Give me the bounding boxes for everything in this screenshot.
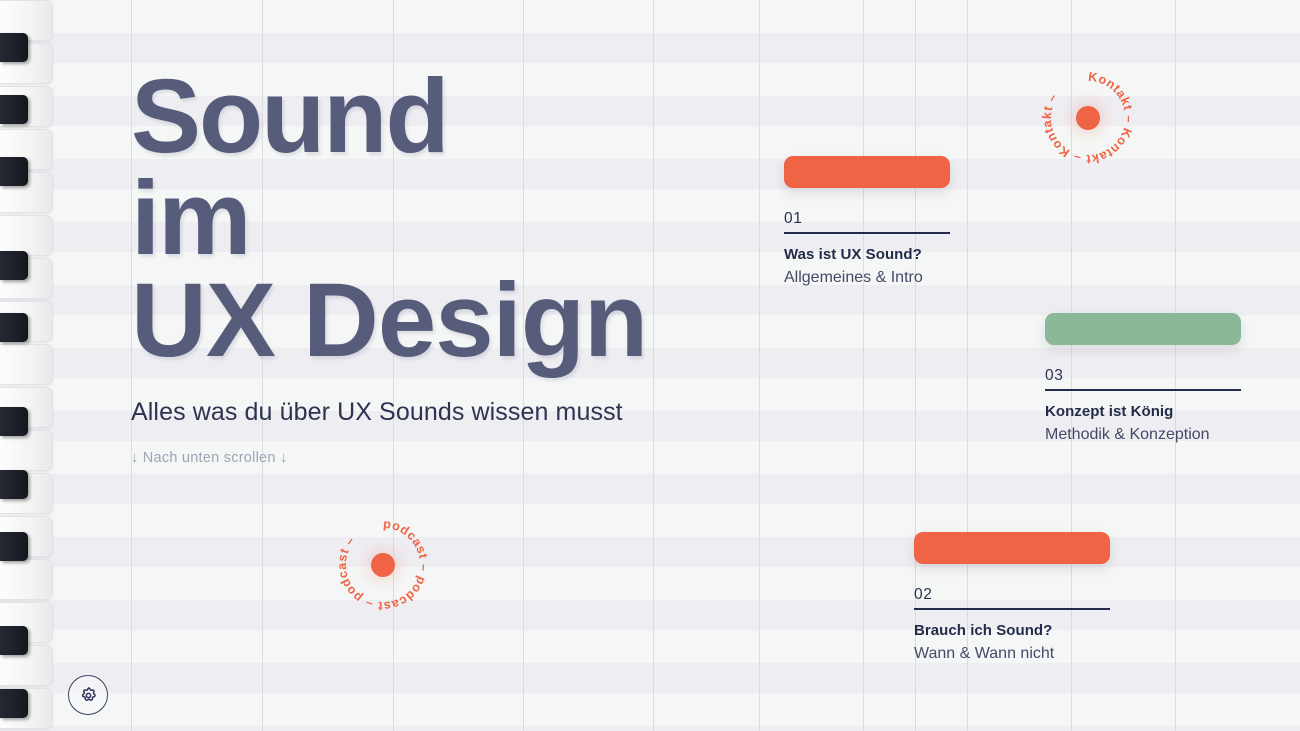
page-title-line-1: Sound	[131, 66, 647, 168]
piano-black-key[interactable]	[0, 407, 28, 436]
card-divider	[914, 608, 1110, 610]
card-description: Wann & Wann nicht	[914, 645, 1110, 663]
card-description: Methodik & Konzeption	[1045, 426, 1241, 444]
grid-line-5	[759, 0, 760, 731]
card-color-bar	[784, 156, 950, 188]
card-color-bar	[1045, 313, 1241, 345]
hero-text-block: Sound im UX Design Alles was du über UX …	[131, 66, 647, 466]
hero-subtitle: Alles was du über UX Sounds wissen musst	[131, 398, 647, 427]
piano-black-key[interactable]	[0, 313, 28, 342]
card-number: 02	[914, 586, 1110, 604]
piano-black-key[interactable]	[0, 33, 28, 62]
card-title: Konzept ist König	[1045, 403, 1241, 420]
podcast-circular-badge[interactable]: podcast – podcast – podcast –	[333, 515, 433, 615]
card-divider	[784, 232, 950, 234]
piano-black-key[interactable]	[0, 470, 28, 499]
gear-icon	[79, 686, 98, 705]
piano-white-key[interactable]	[0, 215, 53, 256]
card-color-bar	[914, 532, 1110, 564]
topic-card-02[interactable]: 02 Brauch ich Sound? Wann & Wann nicht	[914, 532, 1110, 663]
piano-black-key[interactable]	[0, 626, 28, 655]
piano-white-key[interactable]	[0, 430, 53, 471]
page-title-line-3: UX Design	[131, 270, 647, 372]
piano-black-key[interactable]	[0, 95, 28, 124]
topic-card-01[interactable]: 01 Was ist UX Sound? Allgemeines & Intro	[784, 156, 950, 287]
piano-black-key[interactable]	[0, 251, 28, 280]
piano-white-key[interactable]	[0, 344, 53, 385]
hero-page: Sound im UX Design Alles was du über UX …	[0, 0, 1300, 731]
topic-card-03[interactable]: 03 Konzept ist König Methodik & Konzepti…	[1045, 313, 1241, 444]
settings-button[interactable]	[68, 675, 108, 715]
piano-black-key[interactable]	[0, 532, 28, 561]
page-title-line-2: im	[131, 168, 647, 270]
card-description: Allgemeines & Intro	[784, 269, 950, 287]
grid-line-4	[653, 0, 654, 731]
piano-white-key[interactable]	[0, 559, 53, 600]
kontakt-circular-badge[interactable]: Kontakt – Kontakt – Kontakt –	[1038, 68, 1138, 168]
grid-line-6	[863, 0, 864, 731]
card-number: 03	[1045, 367, 1241, 385]
badge-center-dot[interactable]	[371, 553, 395, 577]
card-title: Was ist UX Sound?	[784, 246, 950, 263]
card-divider	[1045, 389, 1241, 391]
piano-keyboard[interactable]	[0, 0, 53, 731]
card-number: 01	[784, 210, 950, 228]
card-title: Brauch ich Sound?	[914, 622, 1110, 639]
badge-center-dot[interactable]	[1076, 106, 1100, 130]
scroll-hint[interactable]: ↓ Nach unten scrollen ↓	[131, 450, 647, 466]
piano-black-key[interactable]	[0, 157, 28, 186]
piano-black-key[interactable]	[0, 689, 28, 718]
